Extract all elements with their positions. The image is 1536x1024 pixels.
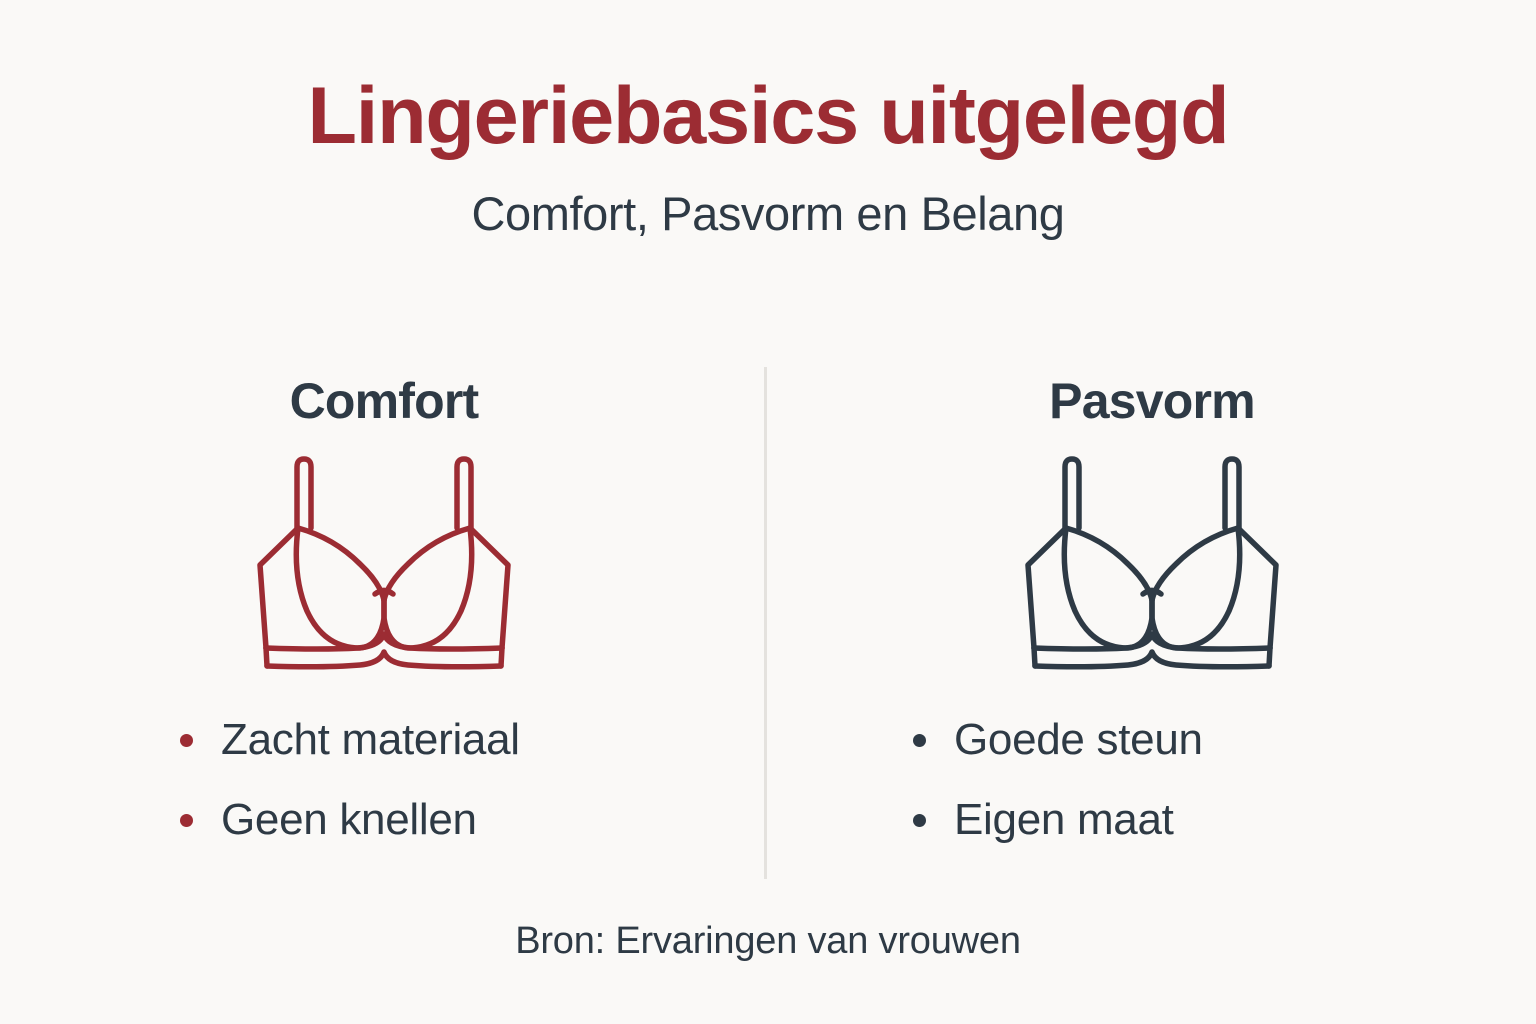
bra-icon (1002, 452, 1302, 680)
list-item: Goede steun (913, 718, 1203, 762)
list-item: Geen knellen (180, 798, 477, 842)
bullet-list-comfort: Zacht materiaal Geen knellen (0, 718, 768, 842)
column-comfort: Comfort (0, 363, 768, 883)
bullet-dot-icon (180, 814, 193, 827)
bullet-list-pasvorm: Goede steun Eigen maat (768, 718, 1536, 842)
page-title: Lingeriebasics uitgelegd (0, 0, 1536, 157)
infographic-poster: Lingeriebasics uitgelegd Comfort, Pasvor… (0, 0, 1536, 1024)
poster-footer: Bron: Ervaringen van vrouwen (0, 922, 1536, 960)
bullet-label: Eigen maat (954, 798, 1174, 842)
bra-icon-comfort (234, 452, 534, 680)
bullet-label: Zacht materiaal (221, 718, 520, 762)
column-heading-comfort: Comfort (290, 363, 479, 426)
bra-icon-pasvorm (1002, 452, 1302, 680)
bullet-label: Goede steun (954, 718, 1203, 762)
bullet-dot-icon (913, 734, 926, 747)
source-attribution: Bron: Ervaringen van vrouwen (0, 922, 1536, 960)
bullet-dot-icon (913, 814, 926, 827)
page-subtitle: Comfort, Pasvorm en Belang (0, 157, 1536, 237)
column-pasvorm: Pasvorm (768, 363, 1536, 883)
list-item: Zacht materiaal (180, 718, 520, 762)
poster-header: Lingeriebasics uitgelegd Comfort, Pasvor… (0, 0, 1536, 237)
comparison-columns: Comfort (0, 363, 1536, 883)
bullet-label: Geen knellen (221, 798, 477, 842)
list-item: Eigen maat (913, 798, 1174, 842)
column-heading-pasvorm: Pasvorm (1049, 363, 1255, 426)
bra-icon (234, 452, 534, 680)
bullet-dot-icon (180, 734, 193, 747)
